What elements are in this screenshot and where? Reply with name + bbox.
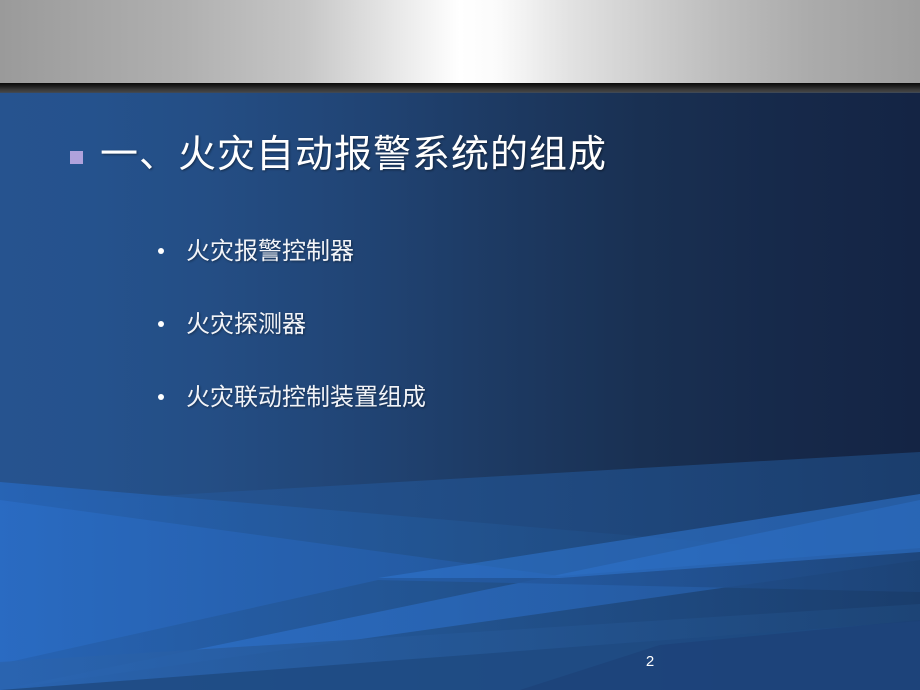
square-bullet-icon [70, 151, 83, 164]
list-item-label: 火灾报警控制器 [186, 232, 354, 270]
list-item-label: 火灾探测器 [186, 305, 306, 343]
list-item: 火灾联动控制装置组成 [158, 378, 798, 416]
page-number: 2 [640, 653, 660, 671]
round-bullet-icon [158, 394, 164, 400]
round-bullet-icon [158, 248, 164, 254]
list-item-label: 火灾联动控制装置组成 [186, 378, 426, 416]
header-silver-band [0, 0, 920, 83]
bullet-list: 火灾报警控制器 火灾探测器 火灾联动控制装置组成 [158, 232, 798, 451]
slide-canvas: 一、火灾自动报警系统的组成 火灾报警控制器 火灾探测器 火灾联动控制装置组成 2 [0, 0, 920, 690]
header-shadow-divider [0, 83, 920, 93]
list-item: 火灾探测器 [158, 305, 798, 343]
slide-title: 一、火灾自动报警系统的组成 [70, 128, 607, 180]
list-item: 火灾报警控制器 [158, 232, 798, 270]
round-bullet-icon [158, 321, 164, 327]
slide-title-text: 一、火灾自动报警系统的组成 [100, 128, 607, 180]
